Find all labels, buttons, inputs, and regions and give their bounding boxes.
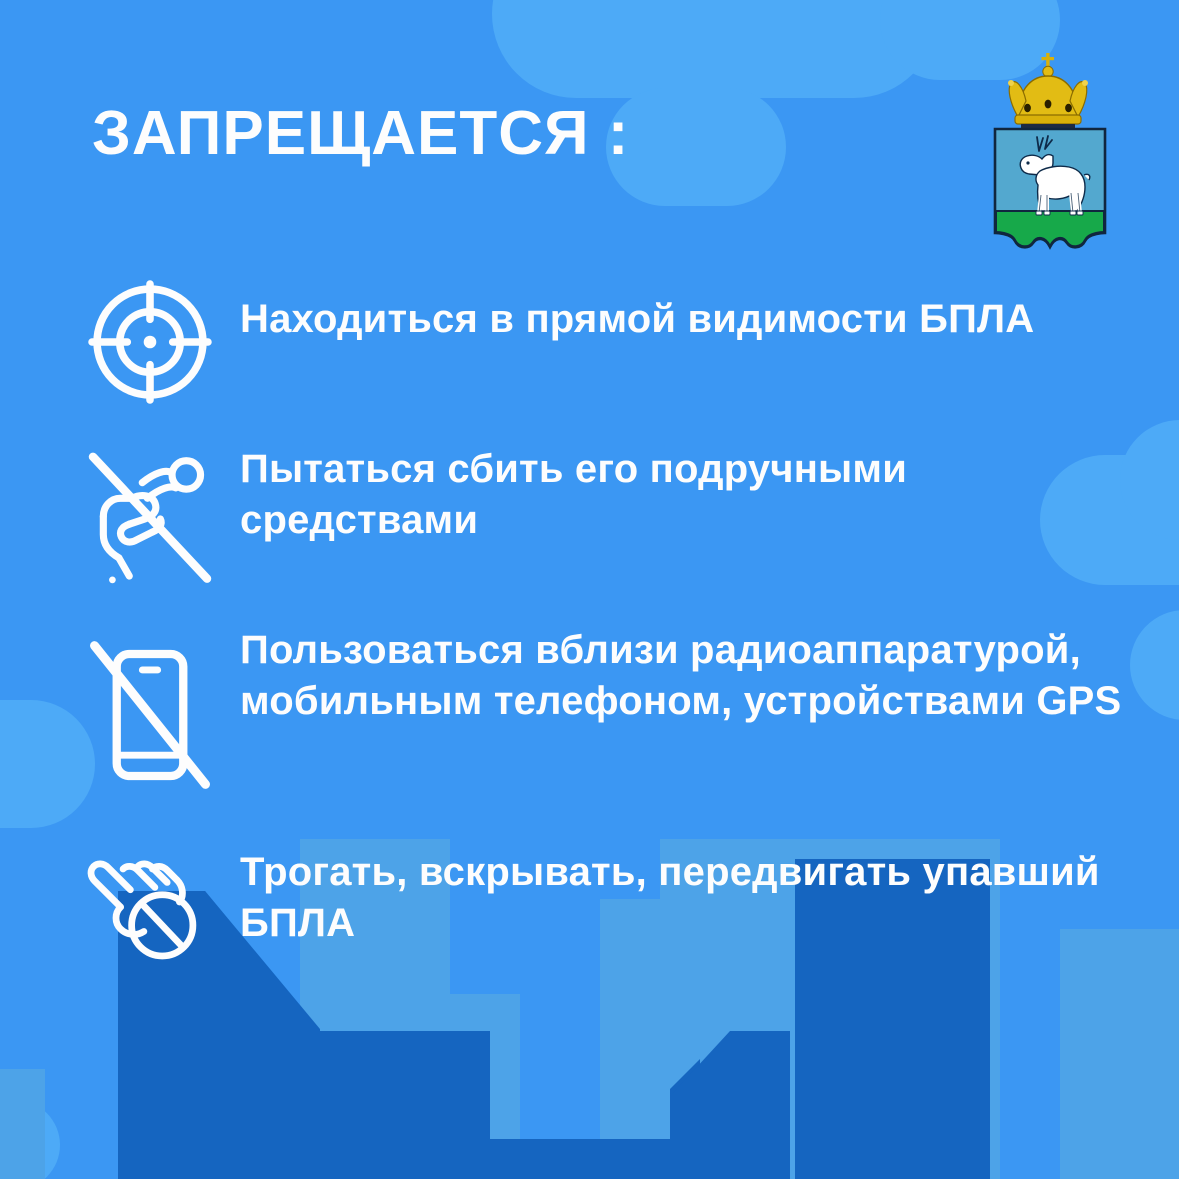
list-item-label: Трогать, вскрывать, передвигать упавший … (240, 829, 1140, 949)
shield-icon (995, 129, 1105, 247)
prohibitions-list: Находиться в прямой видимости БПЛА (60, 272, 1170, 1003)
mobile-phone-crossed-out-icon (60, 625, 240, 805)
crosshair-target-icon (60, 272, 240, 412)
page-title: ЗАПРЕЩАЕТСЯ : (92, 103, 629, 165)
list-item: Пользоваться вблизи радиоаппаратурой, мо… (60, 625, 1170, 805)
list-item: Находиться в прямой видимости БПЛА (60, 272, 1170, 412)
list-item-label: Пытаться сбить его подручными средствами (240, 436, 1140, 546)
poster-root: ЗАПРЕЩАЕТСЯ : (0, 0, 1179, 1179)
hand-throwing-stone-crossed-out-icon (60, 436, 240, 601)
cloud-shape-top-a (492, 0, 938, 98)
list-item-label: Пользоваться вблизи радиоаппаратурой, мо… (240, 625, 1140, 727)
list-item: Трогать, вскрывать, передвигать упавший … (60, 829, 1170, 979)
list-item: Пытаться сбить его подручными средствами (60, 436, 1170, 601)
imperial-crown-icon (1008, 53, 1088, 130)
hand-touch-prohibited-icon (60, 829, 240, 979)
samara-coat-of-arms (985, 45, 1115, 280)
cloud-shape-top-b (606, 88, 786, 206)
list-item-label: Находиться в прямой видимости БПЛА (240, 272, 1034, 345)
